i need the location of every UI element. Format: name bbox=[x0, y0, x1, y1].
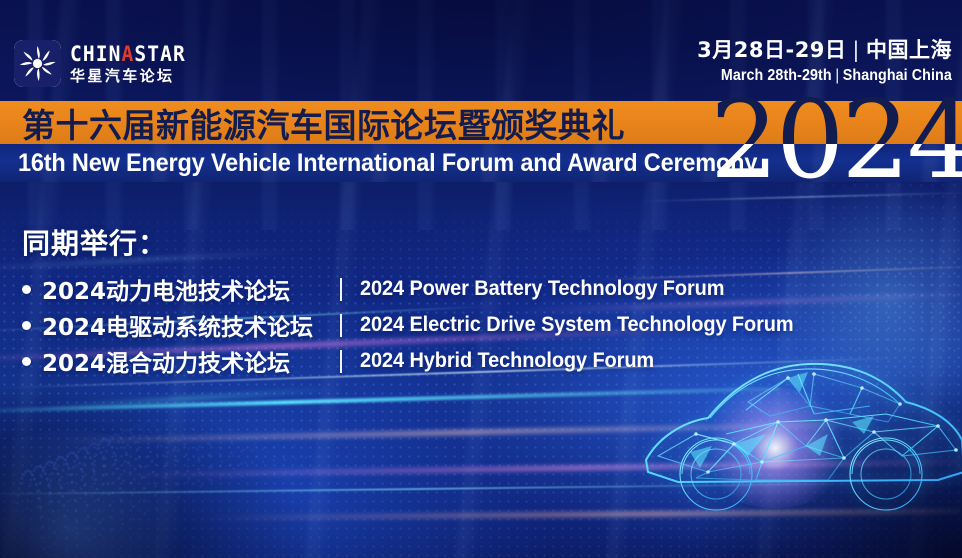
forum-divider bbox=[340, 350, 342, 373]
event-date-cn: 3月28日-29日|中国上海 bbox=[697, 40, 952, 61]
forum-list-item: 2024动力电池技术论坛2024 Power Battery Technolog… bbox=[22, 274, 816, 304]
location-cn-text: 中国上海 bbox=[866, 38, 952, 62]
event-title-cn: 第十六届新能源汽车国际论坛暨颁奖典礼 bbox=[22, 101, 625, 144]
forum-list-item: 2024混合动力技术论坛2024 Hybrid Technology Forum bbox=[22, 346, 816, 376]
chinastar-star-emblem-icon bbox=[14, 40, 61, 87]
forum-cn-column: 2024动力电池技术论坛 bbox=[22, 272, 322, 306]
forum-list-item: 2024电驱动系统技术论坛2024 Electric Drive System … bbox=[22, 310, 816, 340]
bullet-icon bbox=[22, 357, 31, 366]
event-banner: CHINASTAR 华星汽车论坛 3月28日-29日|中国上海 March 28… bbox=[0, 0, 962, 558]
bullet-icon bbox=[22, 285, 31, 294]
forum-cn-column: 2024混合动力技术论坛 bbox=[22, 344, 322, 378]
brand-name-en-text: CHINASTAR bbox=[70, 42, 186, 66]
event-date-location: 3月28日-29日|中国上海 March 28th-29th|Shanghai … bbox=[697, 40, 952, 84]
forum-name-cn: 2024电驱动系统技术论坛 bbox=[42, 308, 313, 342]
bullet-icon bbox=[22, 321, 31, 330]
forum-name-en: 2024 Power Battery Technology Forum bbox=[360, 277, 724, 301]
event-title-en: 16th New Energy Vehicle International Fo… bbox=[18, 144, 757, 182]
concurrent-events-section: 同期举行： 2024动力电池技术论坛2024 Power Battery Tec… bbox=[22, 222, 816, 376]
date-separator-en: | bbox=[832, 67, 843, 84]
forum-divider bbox=[340, 278, 342, 301]
brand-name-cn: 华星汽车论坛 bbox=[70, 69, 195, 84]
date-en-text: March 28th-29th bbox=[721, 67, 832, 84]
forum-name-en: 2024 Electric Drive System Technology Fo… bbox=[360, 313, 794, 337]
date-separator-cn: | bbox=[846, 38, 866, 62]
date-cn-text: 3月28日-29日 bbox=[697, 38, 846, 62]
forum-divider bbox=[340, 314, 342, 337]
forum-cn-column: 2024电驱动系统技术论坛 bbox=[22, 308, 322, 342]
forum-name-cn: 2024动力电池技术论坛 bbox=[42, 272, 290, 306]
brand-name-en: CHINASTAR bbox=[70, 44, 186, 65]
forum-name-en: 2024 Hybrid Technology Forum bbox=[360, 349, 654, 373]
concurrent-heading: 同期举行： bbox=[22, 222, 816, 262]
forum-list: 2024动力电池技术论坛2024 Power Battery Technolog… bbox=[22, 274, 816, 376]
brand-logo: CHINASTAR 华星汽车论坛 bbox=[14, 40, 195, 87]
forum-name-cn: 2024混合动力技术论坛 bbox=[42, 344, 290, 378]
event-date-en: March 28th-29th|Shanghai China bbox=[718, 68, 952, 84]
location-en-text: Shanghai China bbox=[843, 67, 952, 84]
